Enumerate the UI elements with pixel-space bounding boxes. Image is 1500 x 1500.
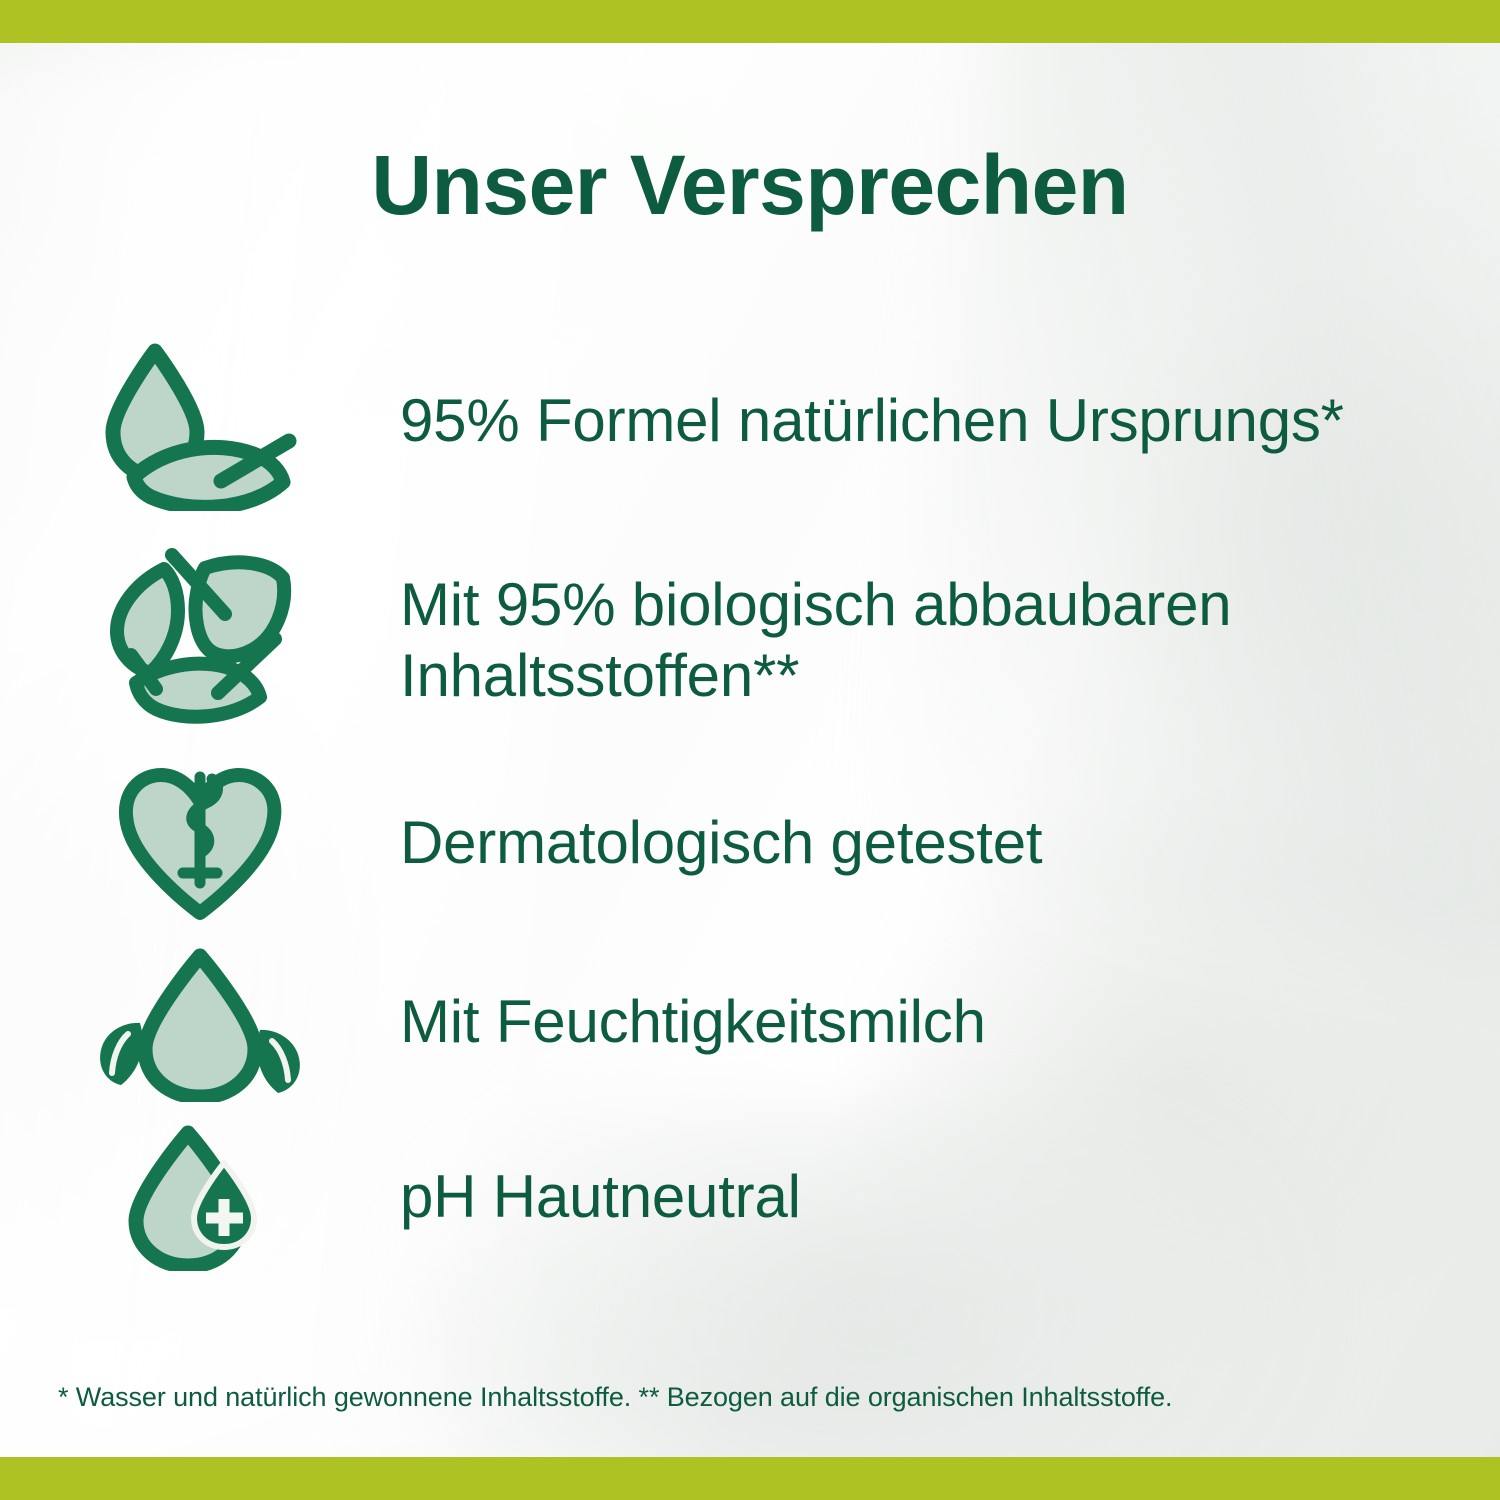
promo-poster: Unser Versprechen 95% Formel natürlichen… [0, 0, 1500, 1500]
poster-content: Unser Versprechen 95% Formel natürlichen… [0, 43, 1500, 1457]
benefit-text: Dermatologisch getestet [400, 807, 1082, 878]
benefit-text: pH Hautneutral [400, 1161, 841, 1232]
leaf-right [257, 1030, 300, 1093]
leaf-left [100, 1023, 142, 1085]
top-accent-bar [0, 0, 1500, 43]
benefit-item: pH Hautneutral [0, 1111, 1500, 1283]
benefit-text: Mit 95% biologisch abbaubaren Inhaltssto… [400, 569, 1500, 712]
droplet-plus-icon [0, 1123, 400, 1271]
footnote: * Wasser und natürlich gewonnene Inhalts… [58, 1381, 1460, 1413]
page-title: Unser Versprechen [0, 143, 1500, 227]
droplet-two-leaves-icon [0, 942, 400, 1102]
three-leaves-recycle-icon [0, 543, 400, 738]
droplet-shape [145, 956, 255, 1097]
benefit-item: Mit Feuchtigkeitsmilch [0, 933, 1500, 1111]
droplet-leaf-icon [0, 331, 400, 511]
benefit-text: Mit Feuchtigkeitsmilch [400, 986, 1026, 1057]
benefits-list: 95% Formel natürlichen Ursprungs* [0, 315, 1500, 1283]
benefit-item: 95% Formel natürlichen Ursprungs* [0, 315, 1500, 527]
benefit-text: 95% Formel natürlichen Ursprungs* [400, 385, 1384, 456]
bottom-accent-bar [0, 1457, 1500, 1500]
benefit-item: Dermatologisch getestet [0, 753, 1500, 933]
benefit-item: Mit 95% biologisch abbaubaren Inhaltssto… [0, 527, 1500, 753]
heart-caduceus-icon [0, 763, 400, 923]
